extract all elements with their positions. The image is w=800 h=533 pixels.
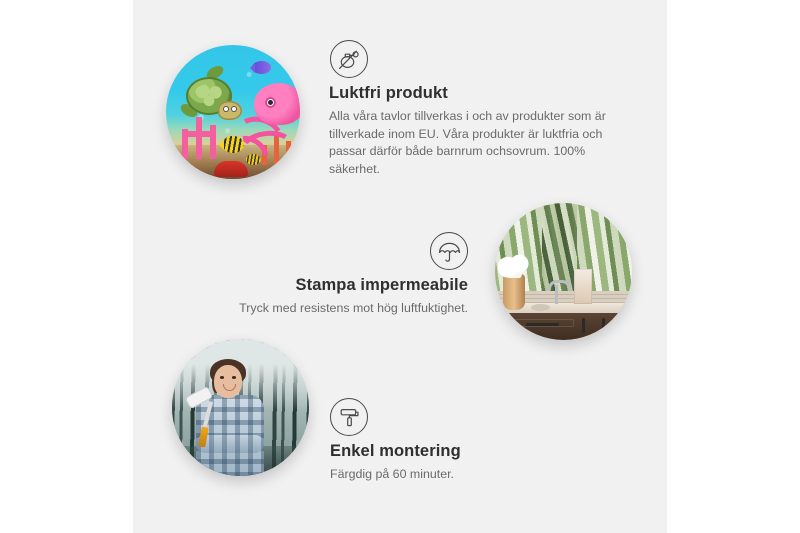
- cabinet-handle: [582, 318, 585, 333]
- feature-water-resistant: Stampa impermeabile Tryck med resistens …: [196, 232, 468, 318]
- octopus-eye: [265, 97, 276, 108]
- page-root: Luktfri produkt Alla våra tavlor tillver…: [0, 0, 800, 533]
- feature-description: Alla våra tavlor tillverkas i och av pro…: [329, 108, 629, 178]
- octopus-head: [254, 83, 300, 125]
- vanity-cabinet: [506, 313, 632, 340]
- feature-title: Enkel montering: [330, 442, 590, 461]
- faucet: [555, 285, 558, 304]
- umbrella-icon: [430, 232, 468, 270]
- no-fragrance-icon: [330, 40, 368, 78]
- feature-description: Tryck med resistens mot hög luftfuktighe…: [196, 300, 468, 318]
- flowers: [498, 254, 531, 279]
- fish-small: [246, 154, 261, 165]
- cabinet-handle: [602, 318, 605, 333]
- feature-easy-mounting: Enkel montering Färgdig på 60 minuter.: [330, 398, 590, 484]
- icon-wrap: [330, 398, 590, 436]
- product-image-bathroom[interactable]: [495, 203, 632, 340]
- paint-roller-icon: [330, 398, 368, 436]
- product-image-painter[interactable]: [172, 339, 309, 476]
- feature-title: Stampa impermeabile: [196, 276, 468, 295]
- icon-wrap: [196, 232, 468, 270]
- product-image-ocean[interactable]: [166, 45, 300, 179]
- turtle-head: [218, 101, 242, 120]
- painter-face: [214, 365, 242, 398]
- feature-title: Luktfri produkt: [329, 84, 629, 103]
- drawer-handle: [526, 323, 559, 326]
- feature-description: Färgdig på 60 minuter.: [330, 466, 590, 484]
- fish-purple: [252, 61, 271, 74]
- towel: [574, 269, 592, 305]
- painter-eye: [220, 376, 224, 379]
- vase: [503, 274, 525, 310]
- feature-odour-free: Luktfri produkt Alla våra tavlor tillver…: [329, 40, 629, 178]
- painter-eye: [232, 376, 236, 379]
- icon-wrap: [329, 40, 629, 78]
- coral-pink: [178, 117, 222, 159]
- fish-yellow: [222, 136, 244, 153]
